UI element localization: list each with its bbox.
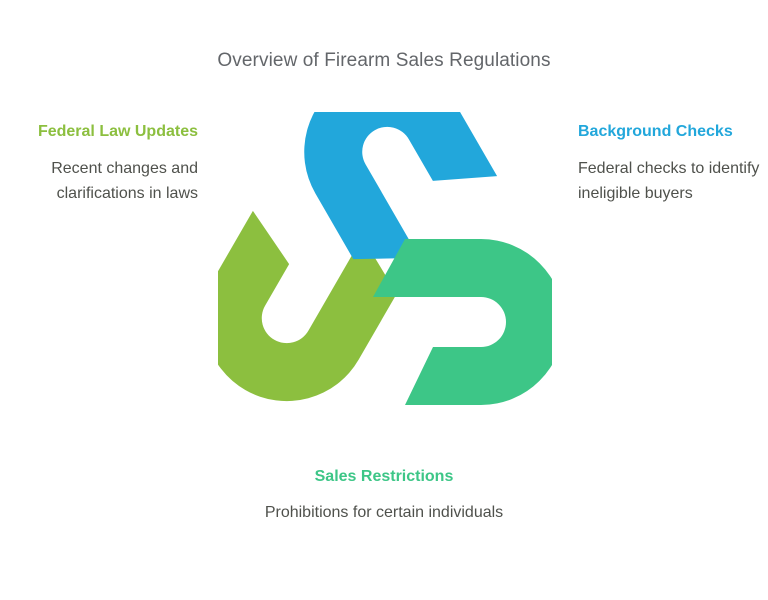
segment-heading-sales-restrictions: Sales Restrictions — [234, 466, 534, 487]
segment-heading-federal-law-updates: Federal Law Updates — [8, 121, 198, 142]
infographic-canvas: Overview of Firearm Sales Regulations — [0, 0, 768, 600]
segment-body-sales-restrictions: Prohibitions for certain individuals — [234, 500, 534, 525]
interlocking-trefoil-diagram — [218, 112, 552, 412]
trefoil-arm-teal — [373, 239, 552, 405]
page-title: Overview of Firearm Sales Regulations — [0, 47, 768, 75]
segment-label-background-checks: Background Checks Federal checks to iden… — [578, 121, 764, 206]
segment-body-background-checks: Federal checks to identify ineligible bu… — [578, 156, 764, 206]
segment-label-sales-restrictions: Sales Restrictions Prohibitions for cert… — [234, 466, 534, 525]
segment-label-federal-law-updates: Federal Law Updates Recent changes and c… — [8, 121, 198, 206]
segment-body-federal-law-updates: Recent changes and clarifications in law… — [8, 156, 198, 206]
segment-heading-background-checks: Background Checks — [578, 121, 764, 142]
